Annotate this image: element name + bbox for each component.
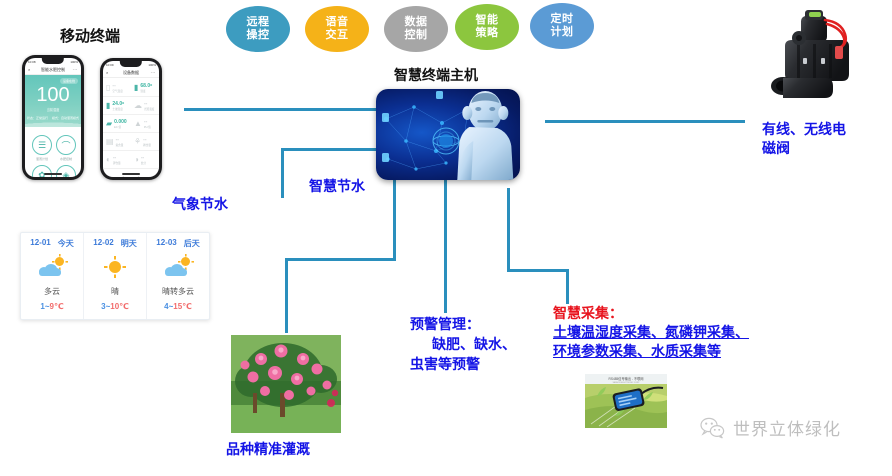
app-title: 智能水肥控制	[41, 67, 65, 73]
reading-unit: 盐分	[141, 161, 146, 165]
thermometer-icon: ▮	[106, 102, 110, 110]
badge-line1: 远程	[247, 16, 270, 29]
badge-line2: 控制	[405, 29, 428, 42]
potassium-icon: ◐	[106, 156, 111, 164]
weather-temperature-range: 3~10℃	[101, 302, 129, 311]
reading-unit: 光照强度	[144, 107, 154, 111]
online-status-badge: 设备在线	[60, 78, 78, 84]
weather-day-header: 12-03 后天	[156, 238, 199, 249]
home-indicator	[122, 173, 140, 175]
badge-line2: 交互	[326, 29, 349, 42]
badge-line2: 操控	[247, 29, 270, 42]
smart-host-title: 智慧终端主机	[394, 65, 478, 85]
weather-temperature-range: 1~9℃	[40, 302, 63, 311]
connector-phones-to-host-stub	[184, 108, 187, 111]
tile-label: 水肥控制	[60, 157, 72, 161]
phone-notch	[120, 61, 142, 67]
salinity-icon: ◑	[134, 156, 139, 164]
badge-line1: 语音	[326, 16, 349, 29]
svg-text:SENSOR ELECTRONIC CORP: SENSOR ELECTRONIC CORP	[613, 382, 640, 384]
reading-ec-value[interactable]: ▰ 0.000EC 值	[103, 115, 131, 132]
list-icon: ☰	[32, 135, 52, 155]
wave-decoration	[25, 119, 81, 128]
tile-label: 灌溉计划	[36, 157, 48, 161]
ph-icon: ▲	[134, 120, 142, 128]
reading-nitrogen[interactable]: ▤ --氮含量	[103, 133, 131, 150]
more-icon[interactable]: ···	[73, 67, 79, 72]
temp-unit: ℃	[119, 302, 129, 311]
connector-host-collect-v2	[566, 269, 569, 304]
partly-cloudy-icon	[165, 257, 191, 277]
connector-host-collect-h	[507, 269, 569, 272]
status-battery: 100%	[148, 63, 156, 67]
reading-soil-temperature[interactable]: ▮ 24.0ᵒ土壤温度	[103, 97, 131, 114]
valve-line1: 有线、无线电	[762, 120, 846, 139]
reading-light-intensity[interactable]: ☁ --光照强度	[131, 97, 159, 114]
weather-day-header: 12-01 今天	[30, 238, 73, 249]
badge-line1: 定时	[551, 13, 574, 26]
app-title: 设备数据	[123, 70, 139, 76]
badge-timed-plan[interactable]: 定时 计划	[530, 3, 594, 49]
weather-date: 12-03	[156, 238, 176, 249]
weather-forecast-card[interactable]: 12-01 今天 多云 1~9℃ 12-02 明天 晴 3~10℃	[20, 232, 210, 320]
cloud-icon: ☁	[134, 102, 142, 110]
collect-line2: 土壤温湿度采集、氮磷钾采集、	[553, 323, 749, 342]
tile-environment[interactable]: ✿ 环境监测	[32, 165, 52, 177]
label-smart-collection: 智慧采集： 土壤温湿度采集、氮磷钾采集、 环境参数采集、水质采集等	[553, 304, 749, 361]
close-icon[interactable]: ×	[28, 67, 30, 72]
weather-description: 晴	[111, 286, 119, 297]
temp-high: 10	[110, 302, 119, 311]
label-smart-water-saving: 智慧节水	[309, 178, 365, 195]
reading-unit: EC 值	[114, 125, 127, 129]
connector-host-rose-v2	[285, 258, 288, 333]
alert-title: 预警管理：	[410, 314, 516, 334]
reading-potassium[interactable]: ◐ --钾含量	[103, 151, 131, 168]
reading-unit: 氮含量	[116, 143, 124, 147]
watermark-text: 世界立体绿化	[733, 415, 841, 440]
badge-line1: 智能	[476, 14, 499, 27]
phone-mockup-data[interactable]: 10:09 100% × 设备数据 ··· ▯ --空气温度 ▮ 68.0ᵒ湿度	[100, 58, 162, 180]
weather-relative-day: 后天	[184, 238, 200, 249]
flask-icon: ▰	[106, 120, 112, 128]
connector-host-collect-v1	[507, 188, 510, 269]
temp-unit: ℃	[54, 302, 64, 311]
connector-host-alert	[444, 180, 447, 313]
reading-unit: PH 值	[144, 125, 151, 129]
label-valve: 有线、无线电 磁阀	[762, 120, 846, 158]
phone-screen: 10:09 100% × 设备数据 ··· ▯ --空气温度 ▮ 68.0ᵒ湿度	[103, 61, 159, 177]
watermark: 世界立体绿化	[700, 415, 841, 440]
tile-irrigation-plan[interactable]: ☰ 灌溉计划	[32, 135, 52, 161]
badge-line1: 数据	[405, 16, 428, 29]
nitrogen-icon: ▤	[106, 138, 114, 146]
label-weather-water-saving: 气象节水	[172, 196, 228, 213]
flower-icon: ✿	[32, 165, 52, 177]
phone-screen: 10:08 100% × 智能水肥控制 ··· 设备在线 100 当前湿度 状态…	[25, 58, 81, 177]
weather-description: 多云	[44, 286, 60, 297]
reading-unit: 钾含量	[113, 161, 121, 165]
connector-host-rose-h	[285, 258, 396, 261]
badge-remote-control[interactable]: 远程 操控	[226, 6, 290, 52]
svg-text:RS485信号输出 - 不联网: RS485信号输出 - 不联网	[609, 376, 644, 381]
connector-host-weather-v	[281, 148, 284, 198]
temp-high: 15	[173, 302, 182, 311]
connector-host-valve	[545, 120, 745, 123]
weather-date: 12-02	[93, 238, 113, 249]
reading-salinity[interactable]: ◑ --盐分	[131, 151, 159, 168]
sensor-readout-list: ▯ --空气温度 ▮ 68.0ᵒ湿度 ▮ 24.0ᵒ土壤温度 ☁	[103, 78, 159, 170]
reading-air-temperature[interactable]: ▯ --空气温度	[103, 79, 131, 96]
reading-ph-value[interactable]: ▲ --PH 值	[131, 115, 159, 132]
wechat-icon	[700, 417, 726, 439]
thermometer-icon: ▯	[106, 84, 110, 92]
label-alert-management: 预警管理： 缺肥、缺水、 虫害等预警	[410, 314, 516, 374]
weather-day-2[interactable]: 12-03 后天 晴转多云 4~15℃	[146, 233, 209, 319]
tile-fertigation[interactable]: ⌒ 水肥控制	[56, 135, 76, 161]
weather-relative-day: 今天	[58, 238, 74, 249]
connector-host-rose-v1	[393, 180, 396, 258]
sensor-graphic: RS485信号输出 - 不联网 SENSOR ELECTRONIC CORP	[585, 374, 667, 428]
weather-day-header: 12-02 明天	[93, 238, 136, 249]
valve-icon: ⌒	[56, 135, 76, 155]
phone-notch	[42, 58, 64, 64]
weather-relative-day: 明天	[121, 238, 137, 249]
mobile-terminal-title: 移动终端	[60, 25, 120, 46]
valve-line2: 磁阀	[762, 139, 846, 158]
phosphorus-icon: ⚘	[134, 138, 141, 146]
reading-phosphorus[interactable]: ⚘ --磷含量	[131, 133, 159, 150]
badge-smart-strategy[interactable]: 智能 策略	[455, 4, 519, 50]
temp-unit: ℃	[182, 302, 192, 311]
humidity-caption: 当前湿度	[25, 107, 81, 112]
function-tile-grid: ☰ 灌溉计划 ⌒ 水肥控制 ✿ 环境监测 ◈ 设备管理	[25, 127, 81, 177]
weather-day-0[interactable]: 12-01 今天 多云 1~9℃	[21, 233, 83, 319]
more-icon[interactable]: ···	[151, 70, 157, 75]
list-row: ▯ --空气温度 ▮ 68.0ᵒ湿度	[103, 79, 159, 97]
rose-bush-photo[interactable]	[231, 335, 341, 433]
home-indicator	[44, 173, 62, 175]
humidity-hero-card: 设备在线 100 当前湿度 状态：正常运行 模式：自动灌溉模式	[25, 75, 81, 127]
rose-graphic	[231, 335, 341, 433]
close-icon[interactable]: ×	[106, 70, 108, 75]
reading-humidity[interactable]: ▮ 68.0ᵒ湿度	[131, 79, 159, 96]
app-bar: × 智能水肥控制 ···	[25, 65, 81, 75]
connector-phones-to-host	[184, 108, 380, 111]
list-row: ▤ --氮含量 ⚘ --磷含量	[103, 133, 159, 151]
badge-line2: 计划	[551, 26, 574, 39]
status-time: 10:09	[106, 63, 114, 67]
reading-unit: 湿度	[140, 89, 152, 93]
collect-line3: 环境参数采集、水质采集等	[553, 342, 749, 361]
app-bar: × 设备数据 ···	[103, 68, 159, 78]
list-row: ▰ 0.000EC 值 ▲ --PH 值	[103, 115, 159, 133]
tile-device-manage[interactable]: ◈ 设备管理	[56, 165, 76, 177]
weather-day-1[interactable]: 12-02 明天 晴 3~10℃	[83, 233, 146, 319]
alert-line3: 虫害等预警	[410, 354, 516, 374]
label-precision-irrigation: 品种精准灌溉	[226, 441, 310, 458]
valve-graphic	[765, 8, 873, 113]
solenoid-valve-photo[interactable]	[765, 8, 873, 113]
collect-title: 智慧采集：	[553, 304, 749, 323]
soil-sensor-photo[interactable]: RS485信号输出 - 不联网 SENSOR ELECTRONIC CORP	[585, 374, 667, 428]
list-row: ◐ --钾含量 ◑ --盐分	[103, 151, 159, 169]
reading-unit: 土壤温度	[112, 107, 124, 111]
phone-mockup-control[interactable]: 10:08 100% × 智能水肥控制 ··· 设备在线 100 当前湿度 状态…	[22, 55, 84, 180]
robot-icon	[443, 89, 520, 180]
gear-icon: ◈	[56, 165, 76, 177]
reading-unit: 磷含量	[143, 143, 151, 147]
sunny-icon	[102, 257, 128, 277]
status-battery: 100%	[70, 60, 78, 64]
badge-line2: 策略	[476, 27, 499, 40]
droplet-icon: ▮	[134, 84, 138, 92]
smart-terminal-host-image[interactable]	[376, 89, 520, 180]
weather-description: 晴转多云	[162, 286, 194, 297]
alert-line2: 缺肥、缺水、	[410, 334, 516, 354]
weather-date: 12-01	[30, 238, 50, 249]
partly-cloudy-icon	[39, 257, 65, 277]
humidity-value: 100	[25, 83, 81, 107]
badge-data-control[interactable]: 数据 控制	[384, 6, 448, 52]
reading-unit: 空气温度	[112, 89, 122, 93]
diagram-canvas: 远程 操控 语音 交互 数据 控制 智能 策略 定时 计划 移动终端 10:08…	[0, 0, 892, 476]
status-time: 10:08	[28, 60, 36, 64]
badge-voice-interaction[interactable]: 语音 交互	[305, 6, 369, 52]
list-row: ▮ 24.0ᵒ土壤温度 ☁ --光照强度	[103, 97, 159, 115]
weather-temperature-range: 4~15℃	[164, 302, 192, 311]
